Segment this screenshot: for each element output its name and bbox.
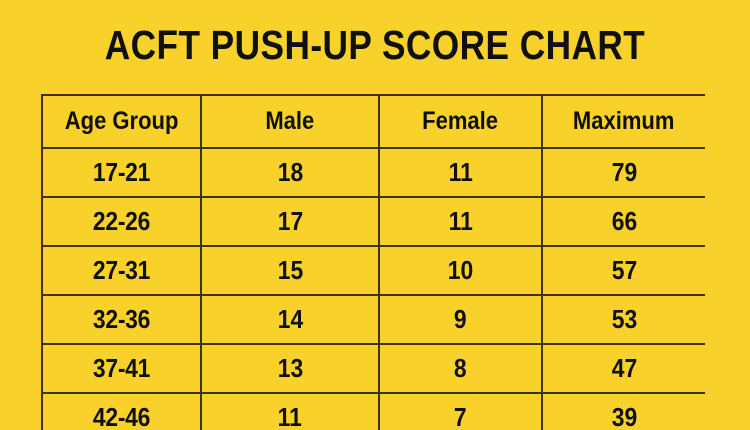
table-row: 42-46 11 7 39 — [42, 393, 705, 430]
score-chart-page: ACFT PUSH-UP SCORE CHART Age Group Male … — [0, 0, 750, 430]
cell-female-value: 7 — [454, 402, 467, 430]
cell-age-group-value: 32-36 — [93, 304, 150, 335]
table-row: 22-26 17 11 66 — [42, 197, 705, 246]
cell-age-group: 22-26 — [42, 197, 201, 246]
cell-maximum: 66 — [542, 197, 705, 246]
cell-maximum: 57 — [542, 246, 705, 295]
page-title: ACFT PUSH-UP SCORE CHART — [53, 22, 698, 68]
cell-age-group: 37-41 — [42, 344, 201, 393]
cell-female: 10 — [379, 246, 542, 295]
cell-maximum: 39 — [542, 393, 705, 430]
cell-female-value: 9 — [454, 304, 467, 335]
column-header-female-label: Female — [423, 107, 499, 136]
cell-female: 7 — [379, 393, 542, 430]
cell-age-group: 27-31 — [42, 246, 201, 295]
cell-male: 15 — [201, 246, 379, 295]
cell-maximum-value: 39 — [611, 402, 636, 430]
cell-female: 11 — [379, 148, 542, 197]
cell-maximum: 53 — [542, 295, 705, 344]
acft-push-up-score-table: Age Group Male Female Maximum 17-21 18 1… — [41, 94, 705, 430]
table-row: 32-36 14 9 53 — [42, 295, 705, 344]
cell-male-value: 13 — [277, 353, 302, 384]
cell-female-value: 8 — [454, 353, 467, 384]
cell-maximum-value: 53 — [611, 304, 636, 335]
cell-age-group-value: 42-46 — [93, 402, 150, 430]
cell-male: 18 — [201, 148, 379, 197]
column-header-maximum: Maximum — [542, 95, 705, 148]
cell-maximum: 47 — [542, 344, 705, 393]
cell-male-value: 15 — [277, 255, 302, 286]
cell-male: 14 — [201, 295, 379, 344]
cell-male-value: 17 — [277, 206, 302, 237]
score-table-container: Age Group Male Female Maximum 17-21 18 1… — [41, 94, 705, 430]
table-header-row: Age Group Male Female Maximum — [42, 95, 705, 148]
cell-age-group-value: 22-26 — [93, 206, 150, 237]
cell-male: 13 — [201, 344, 379, 393]
column-header-age-group: Age Group — [42, 95, 201, 148]
cell-maximum-value: 66 — [611, 206, 636, 237]
cell-male: 17 — [201, 197, 379, 246]
cell-male-value: 14 — [277, 304, 302, 335]
cell-male-value: 18 — [277, 157, 302, 188]
cell-female: 11 — [379, 197, 542, 246]
table-row: 17-21 18 11 79 — [42, 148, 705, 197]
cell-age-group-value: 37-41 — [93, 353, 150, 384]
cell-age-group: 32-36 — [42, 295, 201, 344]
cell-age-group: 42-46 — [42, 393, 201, 430]
column-header-age-group-label: Age Group — [65, 107, 179, 136]
column-header-male: Male — [201, 95, 379, 148]
cell-female: 9 — [379, 295, 542, 344]
cell-maximum-value: 57 — [611, 255, 636, 286]
cell-female-value: 11 — [448, 157, 472, 188]
table-row: 37-41 13 8 47 — [42, 344, 705, 393]
cell-age-group: 17-21 — [42, 148, 201, 197]
cell-male: 11 — [201, 393, 379, 430]
column-header-female: Female — [379, 95, 542, 148]
table-row: 27-31 15 10 57 — [42, 246, 705, 295]
cell-age-group-value: 17-21 — [93, 157, 150, 188]
cell-female: 8 — [379, 344, 542, 393]
cell-male-value: 11 — [278, 402, 302, 430]
cell-maximum-value: 79 — [611, 157, 636, 188]
cell-maximum-value: 47 — [611, 353, 636, 384]
cell-female-value: 10 — [448, 255, 473, 286]
cell-age-group-value: 27-31 — [93, 255, 150, 286]
cell-maximum: 79 — [542, 148, 705, 197]
cell-female-value: 11 — [448, 206, 472, 237]
column-header-male-label: Male — [266, 107, 315, 136]
column-header-maximum-label: Maximum — [573, 107, 674, 136]
